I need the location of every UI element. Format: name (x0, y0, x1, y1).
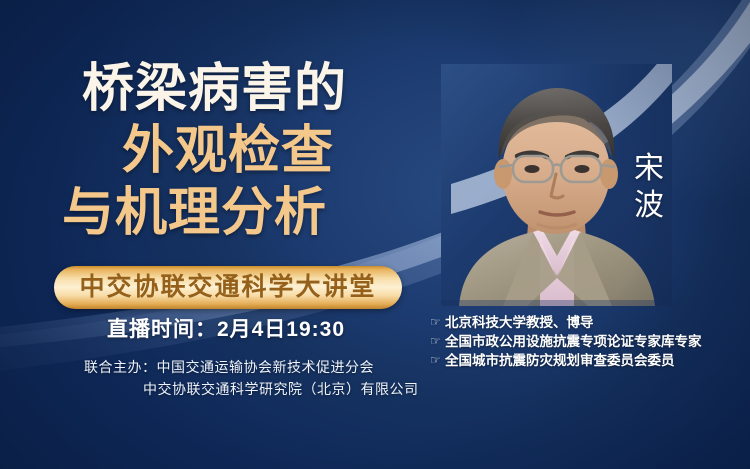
credential-text: 全国城市抗震防灾规划审查委员会委员 (445, 351, 675, 370)
organizers: 联合主办：中国交通运输协会新技术促进分会 中交协联交通科学研究院（北京）有限公司 (0, 356, 452, 400)
title-line-2: 外观检查 (122, 120, 430, 182)
credential-item: ☞ 全国市政公用设施抗震专项论证专家库专家 (430, 332, 748, 351)
credential-item: ☞ 北京科技大学教授、博导 (430, 313, 748, 332)
poster-title: 桥梁病害的 外观检查 与机理分析 (0, 58, 430, 244)
series-badge-label: 中交协联交通科学大讲堂 (79, 275, 376, 300)
webinar-poster: 宋 波 桥梁病害的 外观检查 与机理分析 中交协联交通科学大讲堂 直播时间：2月… (0, 0, 750, 469)
speaker-name-char-1: 宋 (628, 150, 670, 187)
pointing-hand-icon: ☞ (430, 313, 445, 332)
credential-text: 北京科技大学教授、博导 (445, 313, 594, 332)
pointing-hand-icon: ☞ (430, 332, 445, 351)
broadcast-time: 直播时间：2月4日19:30 (0, 313, 452, 343)
series-badge: 中交协联交通科学大讲堂 (54, 266, 402, 309)
title-line-3: 与机理分析 (62, 182, 430, 244)
credential-text: 全国市政公用设施抗震专项论证专家库专家 (445, 332, 702, 351)
speaker-name: 宋 波 (628, 150, 670, 224)
organizer-line-2: 中交协联交通科学研究院（北京）有限公司 (0, 378, 452, 400)
speaker-name-char-2: 波 (628, 187, 670, 224)
speaker-credentials: ☞ 北京科技大学教授、博导 ☞ 全国市政公用设施抗震专项论证专家库专家 ☞ 全国… (430, 313, 748, 370)
credential-item: ☞ 全国城市抗震防灾规划审查委员会委员 (430, 351, 748, 370)
pointing-hand-icon: ☞ (430, 351, 445, 370)
title-line-1: 桥梁病害的 (82, 58, 430, 120)
organizer-line-1: 联合主办：中国交通运输协会新技术促进分会 (0, 356, 452, 378)
